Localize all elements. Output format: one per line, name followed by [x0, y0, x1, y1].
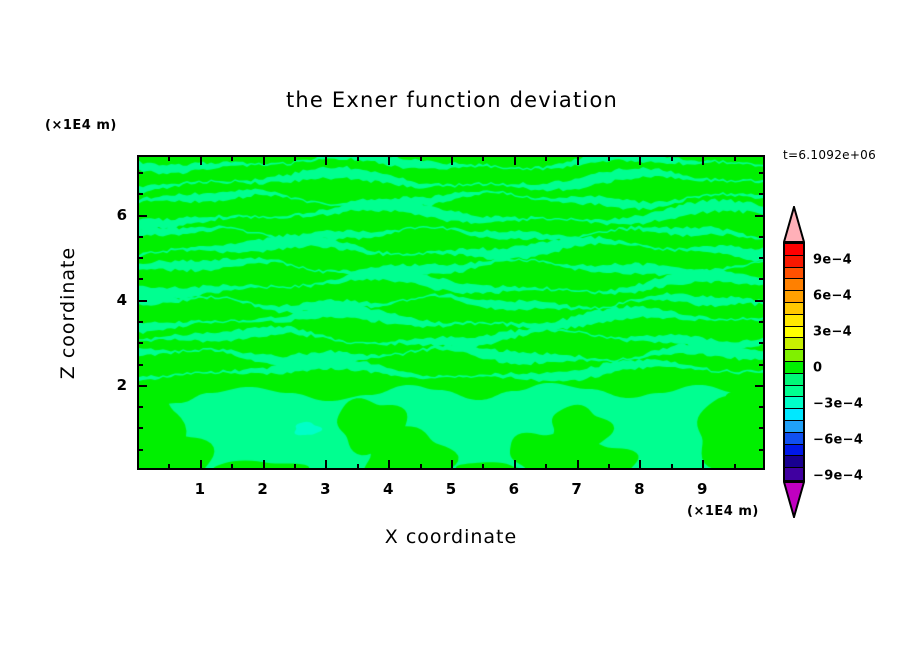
axis-tick [482, 156, 484, 161]
axis-tick [357, 156, 359, 161]
axis-tick [702, 156, 704, 165]
axis-tick [294, 156, 296, 161]
axis-tick [138, 427, 143, 429]
axis-tick [168, 156, 170, 161]
colorbar-band [785, 279, 803, 291]
x-tick-label: 3 [310, 480, 340, 498]
axis-tick [639, 156, 641, 165]
colorbar-tick-label: 6e−4 [813, 289, 852, 304]
colorbar-tick-label: 3e−4 [813, 325, 852, 340]
time-annotation: t=6.1092e+06 [783, 148, 876, 162]
axis-tick [482, 464, 484, 469]
y-tick-label: 6 [97, 206, 127, 224]
axis-tick [759, 449, 764, 451]
colorbar-band [785, 350, 803, 362]
colorbar-band [785, 327, 803, 339]
axis-tick [325, 460, 327, 469]
x-tick-label: 8 [624, 480, 654, 498]
colorbar-tick-label: −9e−4 [813, 469, 863, 484]
y-axis-title: Z coordinate [57, 223, 79, 403]
axis-tick [263, 156, 265, 165]
colorbar-underflow-cap-icon [783, 481, 805, 518]
y-tick-label: 4 [97, 291, 127, 309]
axis-tick [759, 236, 764, 238]
axis-tick [759, 193, 764, 195]
axis-tick [325, 156, 327, 165]
axis-tick [263, 460, 265, 469]
axis-tick [420, 156, 422, 161]
axis-tick [200, 460, 202, 469]
axis-tick [138, 257, 143, 259]
x-tick-label: 1 [185, 480, 215, 498]
colorbar-band [785, 374, 803, 386]
colorbar-band [785, 268, 803, 280]
colorbar-band [785, 315, 803, 327]
axis-tick [388, 156, 390, 165]
axis-tick [138, 300, 147, 302]
x-tick-label: 2 [248, 480, 278, 498]
axis-tick [138, 193, 143, 195]
axis-tick [451, 460, 453, 469]
colorbar-band [785, 362, 803, 374]
axis-tick [755, 215, 764, 217]
colorbar-tick-label: −6e−4 [813, 433, 863, 448]
x-tick-label: 6 [499, 480, 529, 498]
colorbar-band [785, 421, 803, 433]
x-axis-title: X coordinate [137, 526, 765, 548]
axis-tick [138, 406, 143, 408]
axis-tick [231, 156, 233, 161]
x-tick-label: 7 [562, 480, 592, 498]
axis-tick [138, 321, 143, 323]
colorbar-band [785, 445, 803, 457]
axis-tick [168, 464, 170, 469]
axis-tick [759, 257, 764, 259]
colorbar-band [785, 433, 803, 445]
x-tick-label: 4 [373, 480, 403, 498]
y-axis-unit-label: (×1E4 m) [45, 118, 117, 133]
axis-tick [420, 464, 422, 469]
colorbar-band [785, 468, 803, 480]
axis-tick [514, 156, 516, 165]
axis-tick [545, 464, 547, 469]
axis-tick [755, 385, 764, 387]
x-tick-label: 9 [687, 480, 717, 498]
axis-tick [388, 460, 390, 469]
colorbar-bands [783, 242, 805, 482]
colorbar-band [785, 386, 803, 398]
colorbar-band [785, 456, 803, 468]
y-tick-label: 2 [97, 376, 127, 394]
x-tick-label: 5 [436, 480, 466, 498]
axis-tick [759, 427, 764, 429]
axis-tick [294, 464, 296, 469]
axis-tick [759, 364, 764, 366]
axis-tick [357, 464, 359, 469]
axis-tick [759, 321, 764, 323]
axis-tick [138, 364, 143, 366]
colorbar-band [785, 291, 803, 303]
axis-tick [734, 464, 736, 469]
colorbar-tick-label: 0 [813, 361, 822, 376]
axis-tick [231, 464, 233, 469]
axis-tick [138, 215, 147, 217]
colorbar-band [785, 256, 803, 268]
axis-tick [608, 464, 610, 469]
page-title: the Exner function deviation [0, 88, 904, 112]
colorbar-tick-label: 9e−4 [813, 253, 852, 268]
colorbar: 9e−46e−43e−40−3e−4−6e−4−9e−4 [783, 206, 805, 514]
axis-tick [451, 156, 453, 165]
axis-tick [138, 385, 147, 387]
axis-tick [759, 278, 764, 280]
axis-tick [138, 278, 143, 280]
axis-tick [577, 460, 579, 469]
axis-tick [671, 464, 673, 469]
axis-tick [200, 156, 202, 165]
axis-tick [759, 172, 764, 174]
axis-tick [514, 460, 516, 469]
axis-tick [577, 156, 579, 165]
axis-tick [759, 406, 764, 408]
colorbar-band [785, 409, 803, 421]
contour-plot-area [137, 155, 765, 470]
axis-tick [759, 342, 764, 344]
axis-tick [639, 460, 641, 469]
axis-tick [608, 156, 610, 161]
axis-tick [138, 236, 143, 238]
axis-tick [734, 156, 736, 161]
colorbar-band [785, 397, 803, 409]
axis-tick [755, 300, 764, 302]
x-axis-unit-label: (×1E4 m) [687, 504, 759, 519]
axis-tick [671, 156, 673, 161]
colorbar-tick-label: −3e−4 [813, 397, 863, 412]
contour-field [139, 157, 763, 468]
axis-tick [138, 449, 143, 451]
axis-tick [702, 460, 704, 469]
colorbar-overflow-cap-icon [783, 206, 805, 243]
colorbar-band [785, 338, 803, 350]
axis-tick [138, 342, 143, 344]
axis-tick [545, 156, 547, 161]
colorbar-band [785, 244, 803, 256]
colorbar-band [785, 303, 803, 315]
axis-tick [138, 172, 143, 174]
